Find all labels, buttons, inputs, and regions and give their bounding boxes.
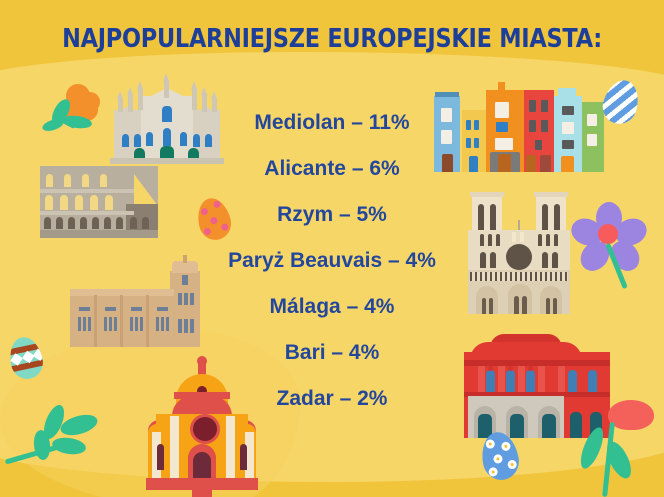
list-item: Málaga – 4%: [180, 284, 484, 330]
poster-canvas: NAJPOPULARNIEJSZE EUROPEJSKIE MIASTA:: [0, 0, 664, 497]
list-item: Mediolan – 11%: [180, 100, 484, 146]
list-item: Paryż Beauvais – 4%: [180, 238, 484, 284]
list-item: Alicante – 6%: [180, 146, 484, 192]
leaf-sprig-decoration: [4, 402, 134, 472]
rome-colosseum-illustration: [40, 166, 158, 238]
leaf-sprig-decoration-top: [16, 64, 96, 124]
city-ranking-list: Mediolan – 11% Alicante – 6% Rzym – 5% P…: [180, 100, 484, 422]
bari-theatre-illustration: [464, 330, 610, 438]
list-item: Rzym – 5%: [180, 192, 484, 238]
purple-flower-decoration: [572, 202, 648, 274]
list-item: Zadar – 2%: [180, 376, 484, 422]
page-title: NAJPOPULARNIEJSZE EUROPEJSKIE MIASTA:: [40, 24, 624, 54]
red-tulip-decoration: [590, 400, 664, 497]
list-item: Bari – 4%: [180, 330, 484, 376]
